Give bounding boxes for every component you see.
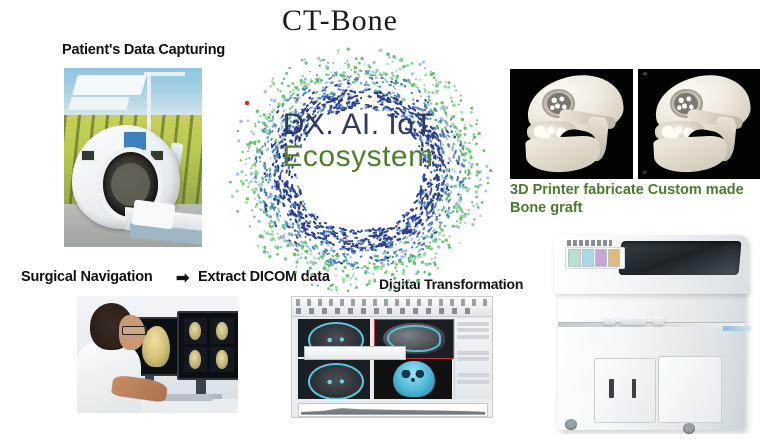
toolbar [292,297,492,317]
lid-handle-left[interactable] [603,316,616,324]
toolbar-icons-row-1 [296,299,488,307]
panel-row [457,380,489,384]
mandible [653,135,728,174]
ct-slice-grid [184,318,234,372]
center-tagline-line1: DX. AI. IoT [243,108,473,142]
scanogram-profile [301,405,485,414]
ct-slice-cell [210,347,234,373]
build-chamber-window [619,241,742,275]
ct-slice-cell [184,318,208,344]
panel-row [457,322,489,326]
ceiling-light-2 [68,97,129,110]
dicom-software-screenshot [291,296,493,418]
mandible [525,135,601,174]
surgical-navigation-photo [77,296,238,413]
toolbar-icons-row-2 [296,308,472,315]
ct-slice-cell [210,318,234,344]
center-tagline-line2: Ecosystem [243,140,473,174]
door-handle-1[interactable] [609,379,614,398]
panel-row [457,357,489,361]
skull-3d-render [393,361,435,397]
arrow-right-icon: ➡ [176,268,189,288]
skull-ct-image-left [510,69,633,179]
floating-dialog [304,346,406,360]
panel-button-purple [595,249,607,268]
caster-right [683,423,695,434]
3d-printer-photo [545,222,767,434]
door-handle-2[interactable] [632,379,637,398]
panel-row [457,351,489,355]
monitor-right [177,311,238,379]
ct-slice-cell [184,347,208,373]
ceiling-light [72,75,147,95]
viewport-sagittal [298,359,370,399]
brand-logo [567,240,611,246]
label-3d-printer-caption: 3D Printer fabricate Custom made Bone gr… [510,182,772,218]
panel-row [457,335,489,339]
gantry-bore-inner [111,163,150,206]
gantry-display [123,131,147,151]
lid-handle-center[interactable] [620,316,647,324]
viewport-3d-skull [374,359,452,399]
panel-button-orange [608,249,620,268]
model-badge [723,326,752,331]
sagittal-slice [308,363,364,399]
ct-scanner-photo [64,68,202,247]
infographic-canvas: CT-Bone DX. AI. IoT Ecosystem Patient's … [0,0,780,443]
panel-button-blue [582,249,594,268]
panel-row [457,373,489,377]
scout-scanogram-strip [298,403,488,417]
gantry-button-left [81,150,95,161]
lid-handle-right[interactable] [652,316,665,324]
right-tool-panel [454,319,491,399]
eyeglasses [122,326,147,335]
gantry-button-right [150,150,164,161]
label-patient-data-capturing: Patient's Data Capturing [62,42,225,58]
page-title: CT-Bone [282,4,398,38]
caster-left [565,419,577,430]
label-surgical-navigation: Surgical Navigation [21,269,153,285]
table-sheet [132,200,176,230]
panel-row [457,328,489,332]
cabinet-door-right[interactable] [658,356,722,424]
panel-button-green [568,249,580,268]
cabinet-door-left[interactable] [594,358,656,424]
skull-ct-image-right: 3D CT [638,69,760,179]
